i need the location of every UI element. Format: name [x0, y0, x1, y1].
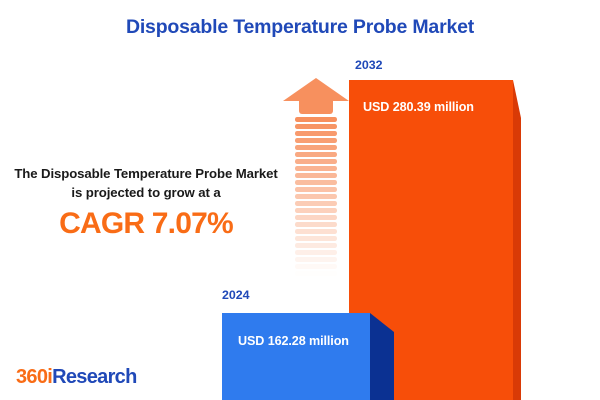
- arrow-segment: [295, 138, 337, 143]
- arrow-segment: [295, 285, 337, 290]
- bar-2024-side-face: [370, 313, 394, 400]
- arrow-segment: [295, 152, 337, 157]
- arrow-segment: [295, 250, 337, 255]
- arrow-segment: [295, 208, 337, 213]
- arrow-head-icon: [283, 78, 349, 101]
- bar-2032-value-label: USD 280.39 million: [363, 100, 474, 114]
- arrow-segment: [295, 271, 337, 276]
- bar-2024-front-face: [222, 313, 370, 400]
- arrow-segment: [295, 243, 337, 248]
- arrow-gradient-stack: [295, 117, 337, 293]
- arrow-segment: [295, 264, 337, 269]
- arrow-segment: [295, 131, 337, 136]
- bar-2024-value-label: USD 162.28 million: [238, 334, 349, 348]
- arrow-segment: [295, 201, 337, 206]
- arrow-segment: [295, 187, 337, 192]
- arrow-neck-icon: [299, 101, 333, 114]
- bar-2032-side-face: [513, 80, 521, 400]
- annotation-text: The Disposable Temperature Probe Market …: [8, 165, 284, 202]
- brand-logo: 360iResearch: [16, 366, 137, 389]
- arrow-segment: [295, 194, 337, 199]
- arrow-segment: [295, 124, 337, 129]
- arrow-segment: [295, 236, 337, 241]
- bar-label-2024: 2024: [222, 288, 250, 302]
- arrow-segment: [295, 222, 337, 227]
- cagr-value: CAGR 7.07%: [8, 207, 284, 241]
- brand-logo-mark: 360i: [16, 366, 52, 388]
- page-title: Disposable Temperature Probe Market: [0, 16, 600, 39]
- arrow-segment: [295, 145, 337, 150]
- arrow-segment: [295, 278, 337, 283]
- arrow-segment: [295, 166, 337, 171]
- infographic-canvas: Disposable Temperature Probe Market The …: [0, 0, 600, 400]
- arrow-segment: [295, 173, 337, 178]
- bar-label-2032: 2032: [355, 58, 383, 72]
- arrow-segment: [295, 215, 337, 220]
- arrow-segment: [295, 117, 337, 122]
- arrow-segment: [295, 229, 337, 234]
- growth-arrow-icon: [283, 78, 349, 294]
- annotation-block: The Disposable Temperature Probe Market …: [8, 165, 284, 241]
- arrow-segment: [295, 180, 337, 185]
- brand-logo-word: Research: [52, 366, 136, 388]
- arrow-segment: [295, 159, 337, 164]
- bar-2024: USD 162.28 million: [222, 313, 394, 400]
- arrow-segment: [295, 257, 337, 262]
